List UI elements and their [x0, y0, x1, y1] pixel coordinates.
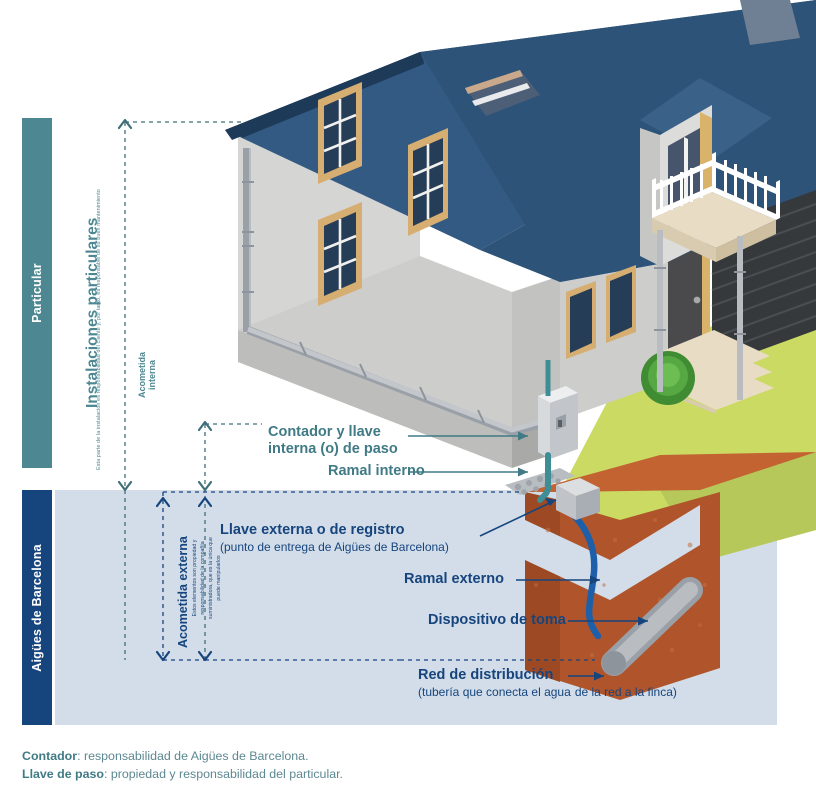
roof-ridge-edge — [225, 52, 424, 140]
footer-line-1: Contador: responsabilidad de Aigües de B… — [22, 748, 343, 766]
door-knob — [694, 297, 701, 304]
callout-ramal-externo-label: Ramal externo — [404, 571, 504, 588]
acom-ext-sub-l1: Estos elementos son propiedad y — [192, 540, 198, 617]
bush — [641, 351, 695, 405]
balcony — [652, 152, 780, 262]
caption-acometida-externa-sub: Estos elementos son propiedad y responsa… — [191, 508, 223, 648]
leader-arrowheads-blue — [545, 498, 648, 681]
callout-dispositivo-toma: Dispositivo de toma — [428, 612, 566, 629]
leader-lines-teal — [408, 436, 528, 472]
house-right-wall-2 — [560, 228, 700, 420]
window-wing-1 — [566, 281, 596, 359]
caption-acometida-externa: Acometida externa — [176, 536, 190, 648]
footer-line-2-rest: : propiedad y responsabilidad del partic… — [104, 767, 343, 781]
callout-llave-externa: Llave externa o de registro (punto de en… — [220, 522, 449, 556]
soil-top-edge — [525, 452, 816, 492]
callout-contador-line1: Contador y llave — [268, 424, 398, 441]
entrance-steps — [652, 330, 774, 414]
downspout-clamps — [242, 182, 746, 334]
callout-contador-line2: interna (o) de paso — [268, 441, 398, 458]
callout-red-distribucion-sub1: (tubería que conecta el agua — [418, 685, 571, 699]
window-lower-left — [318, 202, 362, 306]
caption-acometida-interna: Acometida interna — [137, 330, 157, 420]
llave-paso-teal-pipe — [540, 455, 548, 500]
entrance-door — [668, 246, 702, 356]
caption-instalaciones-particulares-sub: Esta parte de la instalación es responsa… — [96, 189, 102, 470]
leader-arrowheads-teal — [518, 432, 528, 477]
distribution-pipe — [602, 590, 690, 675]
window-upper-left — [318, 82, 362, 184]
skylight — [465, 70, 540, 116]
band-particular-label: Particular — [30, 263, 44, 323]
band-aigues: Aigües de Barcelona — [22, 490, 52, 725]
dormer-wall — [660, 105, 712, 266]
dormer-wall-side — [640, 128, 660, 266]
callout-ramal-externo: Ramal externo — [404, 571, 504, 588]
roof-upper-vent — [740, 0, 800, 45]
foundation-top — [238, 318, 560, 436]
roof-main-front — [225, 0, 816, 250]
lawn-surface — [560, 300, 816, 560]
gravel-bed — [505, 468, 575, 495]
acom-ext-sub-l2: responsabilidad de la compañía — [200, 541, 206, 614]
footer-line-1-bold: Contador — [22, 749, 77, 763]
siding-lines — [712, 204, 816, 354]
band-particular: Particular — [22, 118, 52, 468]
measure-lines-blue — [163, 492, 595, 660]
dormer-window — [668, 128, 700, 228]
callout-contador: Contador y llave interna (o) de paso — [268, 424, 398, 458]
contador-cabinet — [538, 386, 578, 459]
house-right-wall — [512, 276, 560, 436]
acometida-interna-line2: interna — [147, 360, 157, 390]
footer-line-2-bold: Llave de paso — [22, 767, 104, 781]
callout-ramal-interno: Ramal interno — [328, 463, 425, 480]
callout-llave-externa-title: Llave externa o de registro — [220, 522, 449, 539]
footer-notes: Contador: responsabilidad de Aigües de B… — [22, 748, 343, 783]
callout-ramal-interno-label: Ramal interno — [328, 463, 425, 480]
house-gable-face — [238, 55, 420, 330]
door-frame — [702, 246, 710, 344]
ramal-externo-pipe — [566, 508, 598, 636]
window-wing-2 — [606, 265, 636, 343]
siding-panel — [712, 190, 816, 368]
infographic-root: Particular Aigües de Barcelona Instalaci… — [0, 0, 816, 793]
footer-line-2: Llave de paso: propiedad y responsabilid… — [22, 766, 343, 784]
acometida-interna-line1: Acometida — [137, 352, 147, 398]
dormer-trim — [700, 112, 712, 246]
window-gable-right — [408, 128, 448, 236]
soil-speckles — [534, 510, 707, 657]
llave-externa-box — [556, 478, 600, 520]
band-aigues-label: Aigües de Barcelona — [30, 544, 44, 671]
dormer-window-frame — [684, 137, 688, 221]
house-left-wall — [238, 55, 512, 436]
foundation-trim — [238, 314, 560, 432]
balcony-railing — [652, 152, 780, 220]
callout-red-distribucion: Red de distribución (tubería que conecta… — [418, 667, 677, 701]
callout-llave-externa-sub: (punto de entrega de Aigües de Barcelona… — [220, 540, 449, 554]
foundation-right — [512, 420, 560, 468]
leader-lines-blue — [480, 500, 648, 676]
dormer-roof — [640, 78, 772, 160]
lawn-surface-shadow — [660, 452, 816, 562]
callout-dispositivo-toma-label: Dispositivo de toma — [428, 612, 566, 629]
callout-red-distribucion-sub2: de la red a la finca) — [575, 685, 677, 699]
roof-dark-fascia — [238, 52, 424, 138]
footer-line-1-rest: : responsabilidad de Aigües de Barcelona… — [77, 749, 308, 763]
callout-red-distribucion-title: Red de distribución — [418, 667, 677, 684]
soil-left-face — [525, 492, 560, 682]
ramal-interno-pipe — [248, 329, 540, 432]
acom-ext-sub-l3: suministradora, que es la única que — [208, 537, 214, 619]
acom-ext-sub-l4: puede manipularlos — [216, 555, 222, 600]
house-diagram-illustration — [0, 0, 816, 793]
soil-cut-wedge — [525, 505, 700, 600]
roof-slope-right — [480, 60, 816, 282]
roof-main-back — [420, 0, 816, 282]
